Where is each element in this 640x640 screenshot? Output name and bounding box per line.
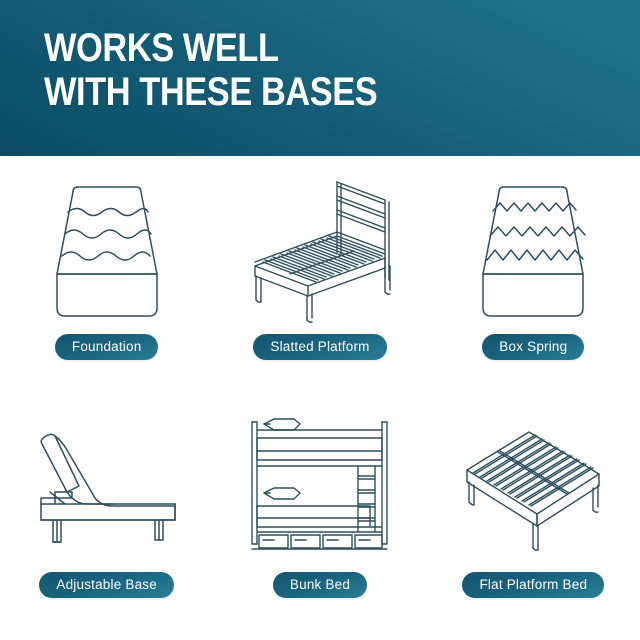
base-card-foundation[interactable]: Foundation (0, 156, 213, 398)
header-banner: WORKS WELL WITH THESE BASES (0, 0, 640, 156)
bunk-bed-icon (230, 408, 410, 568)
adjustable-base-icon (17, 408, 197, 568)
base-card-slatted-platform[interactable]: Slatted Platform (213, 156, 426, 398)
base-label-adjustable-base: Adjustable Base (39, 572, 174, 598)
base-label-box-spring: Box Spring (482, 334, 584, 360)
page-title: WORKS WELL WITH THESE BASES (44, 26, 377, 114)
base-label-bunk-bed: Bunk Bed (273, 572, 367, 598)
base-label-flat-platform-bed: Flat Platform Bed (462, 572, 604, 598)
base-card-flat-platform-bed[interactable]: Flat Platform Bed (427, 398, 640, 640)
flat-platform-bed-icon (443, 408, 623, 568)
slatted-platform-bed-icon (230, 170, 410, 330)
base-card-adjustable-base[interactable]: Adjustable Base (0, 398, 213, 640)
bases-grid: Foundation (0, 156, 640, 640)
base-label-slatted-platform: Slatted Platform (253, 334, 386, 360)
base-card-bunk-bed[interactable]: Bunk Bed (213, 398, 426, 640)
box-spring-icon (443, 170, 623, 330)
base-label-foundation: Foundation (55, 334, 159, 360)
base-card-box-spring[interactable]: Box Spring (427, 156, 640, 398)
works-well-with-these-bases-infographic: WORKS WELL WITH THESE BASES Foundation (0, 0, 640, 640)
mattress-foundation-icon (17, 170, 197, 330)
